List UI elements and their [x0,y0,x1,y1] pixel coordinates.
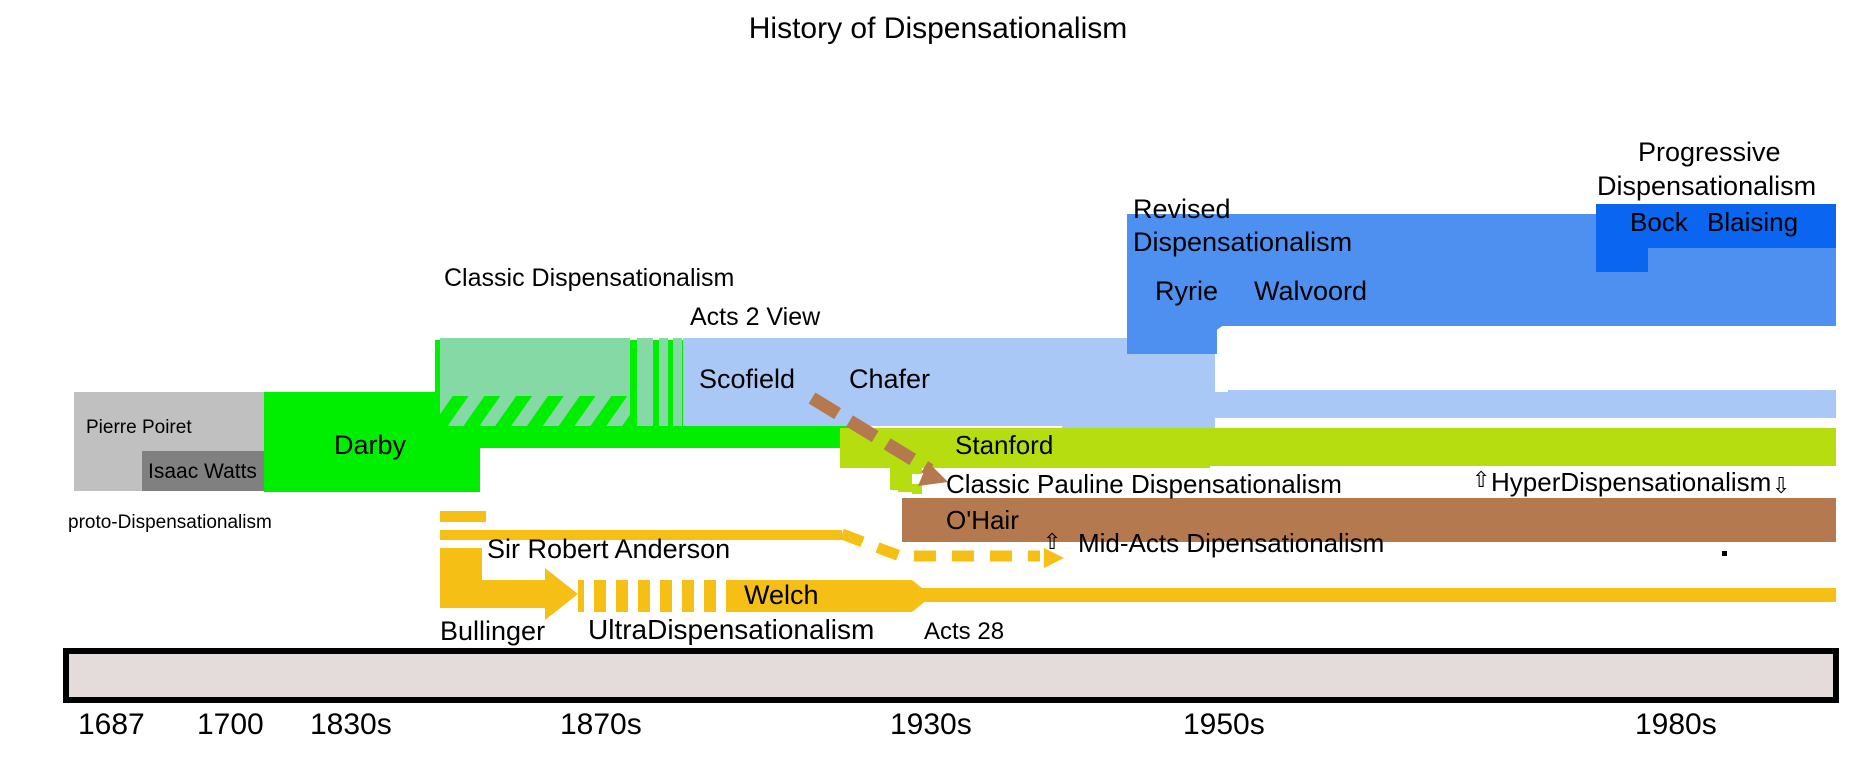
axis-tick-1830s: 1830s [310,708,392,741]
label-ohair: O'Hair [946,506,1019,535]
timeline-canvas [0,0,1876,766]
band-classic-stripe-3 [673,338,682,426]
label-darby: Darby [334,431,406,461]
label-progressive-line1: Progressive [1638,138,1781,168]
label-walvoord: Walvoord [1254,277,1367,307]
label-blaising: Blaising [1707,208,1798,237]
label-acts-2-view: Acts 2 View [690,304,820,332]
axis-tick-1980s: 1980s [1635,708,1717,741]
band-classic-stripe-2 [659,338,668,426]
timeline-diagram: History of Dispensationalism [0,0,1876,766]
band-pauline-nub-2 [912,462,922,474]
label-welch: Welch [744,581,819,611]
arrow-down-icon: ⇩ [1772,474,1790,498]
label-bock: Bock [1630,208,1688,237]
label-mid-acts: Mid-Acts Dipensationalism [1078,529,1384,558]
band-pauline-link [1196,428,1240,466]
label-isaac-watts: Isaac Watts [148,460,257,483]
timeline-bar [66,651,1836,700]
label-bullinger: Bullinger [440,617,545,647]
label-hyperdispensationalism: HyperDispensationalism [1491,468,1771,497]
band-pauline-tail [1228,434,1836,466]
label-stanford: Stanford [955,431,1053,460]
band-acts28-tail [912,588,1836,602]
band-classic-stripe-1 [637,338,653,426]
band-classic-hatch [440,396,630,426]
axis-tick-1930s: 1930s [890,708,972,741]
band-revised-main [1127,264,1836,326]
axis-tick-1700: 1700 [197,708,264,741]
band-ultra-ticks [578,580,732,612]
arrow-up-icon: ⇧ [1472,468,1490,492]
band-pauline-nub-1 [912,438,922,450]
axis-tick-1687: 1687 [78,708,145,741]
label-sir-robert-anderson: Sir Robert Anderson [487,535,730,565]
label-acts-28: Acts 28 [924,619,1004,645]
band-midacts-riser [902,498,930,542]
axis-tick-1950s: 1950s [1183,708,1265,741]
label-classic-dispensationalism: Classic Dispensationalism [444,265,734,293]
band-acts2-top-tail [1228,390,1836,418]
label-pierre-poiret: Pierre Poiret [86,418,192,439]
label-scofield: Scofield [699,365,795,395]
label-revised-line1: Revised [1133,195,1231,225]
label-progressive-line2: Dispensationalism [1597,172,1816,202]
label-chafer: Chafer [849,365,930,395]
band-ultra-tick-1 [440,511,486,522]
arrow-up-icon-midacts: ⇧ [1043,530,1061,554]
label-classic-pauline: Classic Pauline Dispensationalism [946,470,1342,499]
label-ultradispensationalism: UltraDispensationalism [588,615,874,646]
label-ryrie: Ryrie [1155,277,1218,307]
label-revised-line2: Dispensationalism [1133,228,1352,258]
axis-tick-1870s: 1870s [560,708,642,741]
label-proto-dispensationalism: proto-Dispensationalism [68,513,272,534]
hyper-dot [1722,551,1727,556]
